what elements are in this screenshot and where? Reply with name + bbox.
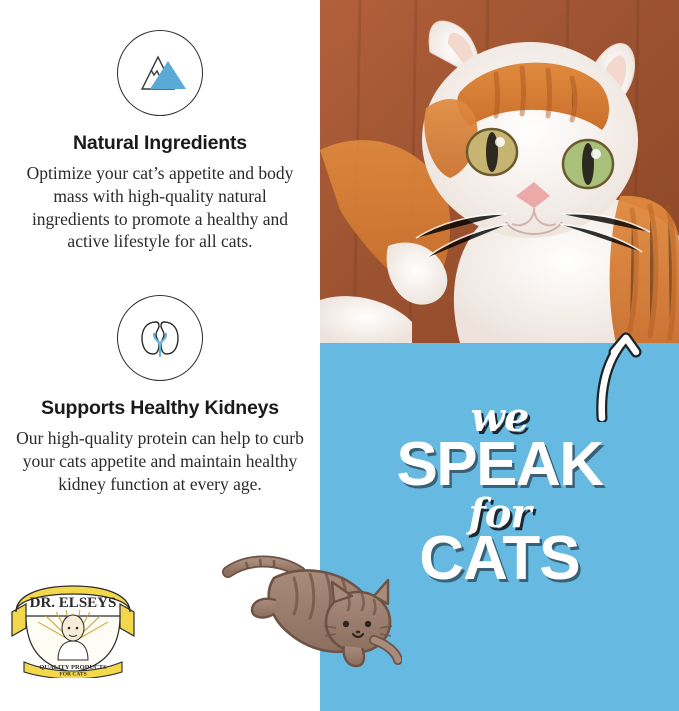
feature-block-natural-ingredients: Natural Ingredients Optimize your cat’s … <box>0 30 320 253</box>
feature-block-healthy-kidneys: Supports Healthy Kidneys Our high-qualit… <box>0 295 320 495</box>
kidneys-icon <box>117 295 203 381</box>
tagline-line-speak: SPEAK <box>320 434 679 496</box>
feature-title: Natural Ingredients <box>0 132 320 155</box>
leaping-cat-illustration <box>216 548 402 670</box>
mountain-icon <box>117 30 203 116</box>
feature-title: Supports Healthy Kidneys <box>0 397 320 420</box>
cat-photo <box>320 0 679 343</box>
dr-elseys-logo: DR. ELSEYS QUALITY PRODUCTS FOR CATS <box>8 582 138 678</box>
promo-image-root: Natural Ingredients Optimize your cat’s … <box>0 0 679 711</box>
logo-brand-text: DR. ELSEYS <box>30 595 117 611</box>
logo-ribbon-text: QUALITY PRODUCTS <box>39 664 107 671</box>
feature-body: Our high-quality protein can help to cur… <box>14 427 306 495</box>
logo-ribbon-subtext: FOR CATS <box>59 672 86 678</box>
feature-body: Optimize your cat’s appetite and body ma… <box>14 162 306 253</box>
